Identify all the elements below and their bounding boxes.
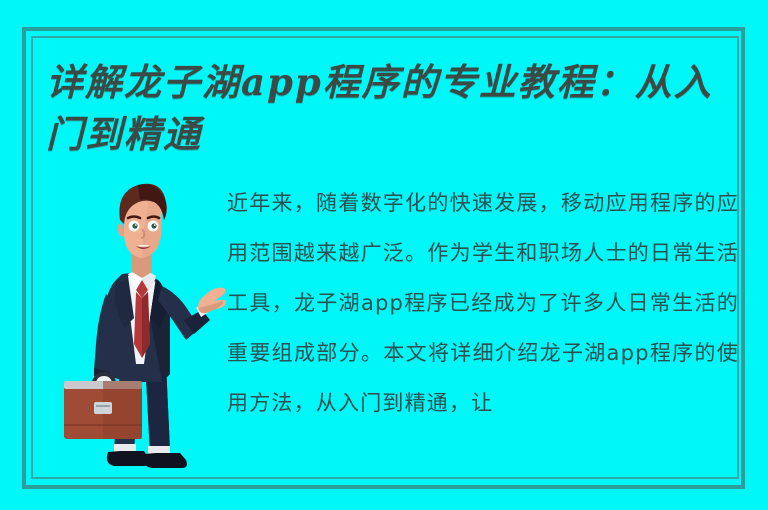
businessman-illustration xyxy=(58,168,228,488)
article-body-text: 近年来，随着数字化的快速发展，移动应用程序的应用范围越来越广泛。作为学生和职场人… xyxy=(227,178,739,428)
poster-canvas: 详解龙子湖app程序的专业教程：从入门到精通 xyxy=(0,0,768,510)
page-title: 详解龙子湖app程序的专业教程：从入门到精通 xyxy=(46,56,736,160)
